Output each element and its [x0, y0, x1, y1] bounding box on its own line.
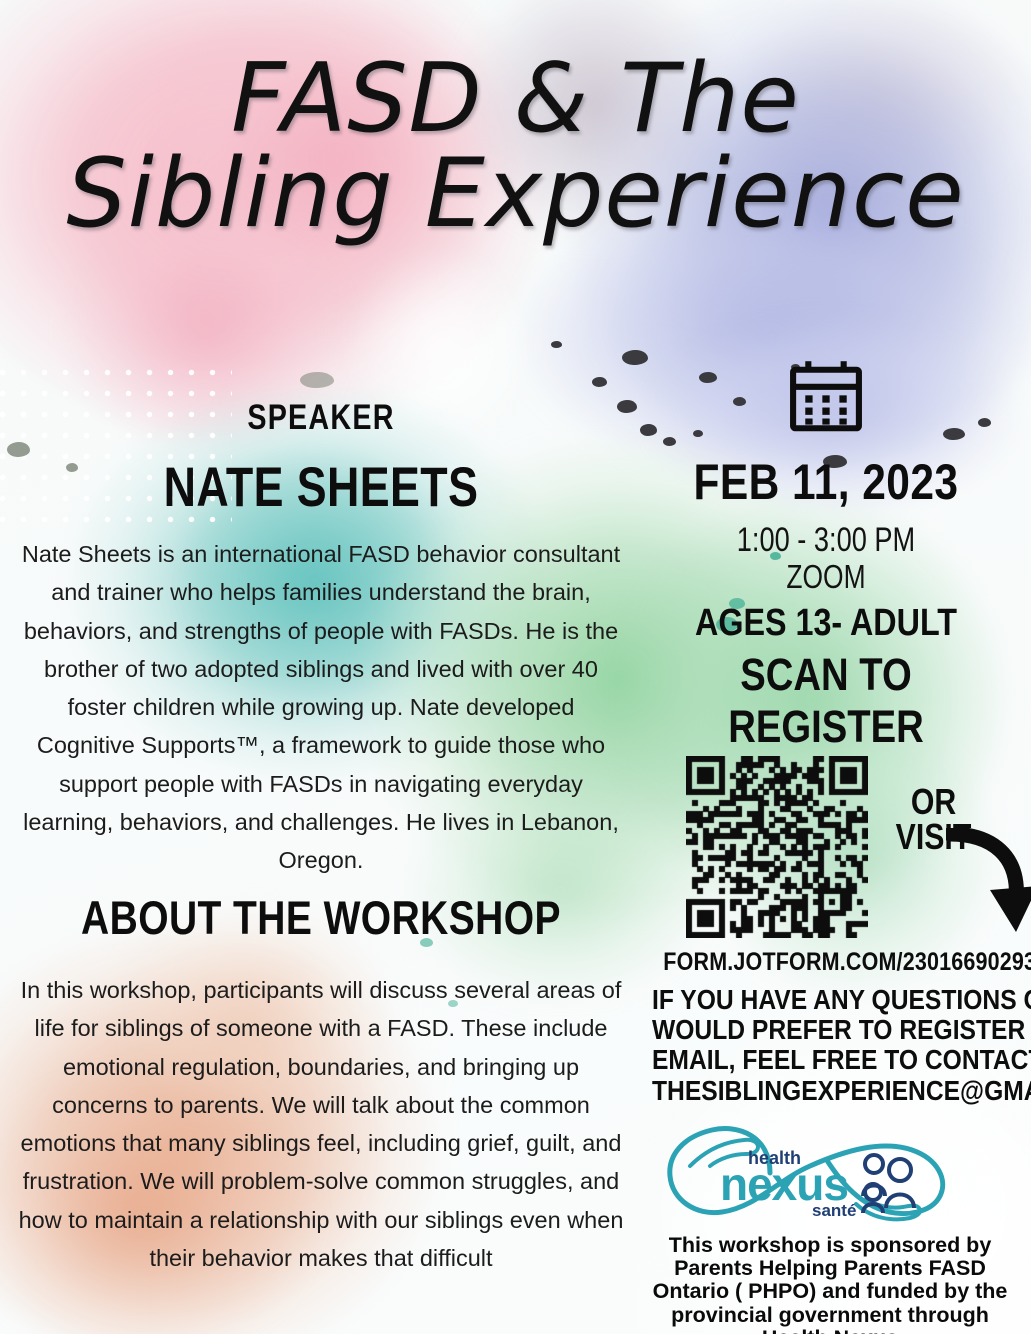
sponsor-line-5: Health Nexus	[630, 1327, 1030, 1334]
sponsor-line-1: This workshop is sponsored by	[630, 1234, 1030, 1257]
about-workshop-section: ABOUT THE WORKSHOP In this workshop, par…	[18, 890, 624, 1277]
calendar-icon	[787, 360, 865, 443]
contact-line-1: IF YOU HAVE ANY QUESTIONS OR	[652, 985, 1004, 1015]
or-line-1: OR	[894, 784, 974, 819]
about-heading: ABOUT THE WORKSHOP	[70, 890, 573, 945]
event-time: 1:00 - 3:00 PM	[674, 521, 978, 560]
event-details-section: FEB 11, 2023 1:00 - 3:00 PM ZOOM AGES 13…	[636, 360, 1016, 753]
registration-url[interactable]: FORM.JOTFORM.COM/230166902931857	[663, 948, 998, 977]
scan-cta: SCAN TO REGISTER	[665, 649, 988, 753]
title-line-2: Sibling Experience	[0, 149, 1031, 240]
event-ages: AGES 13- ADULT	[665, 602, 988, 645]
logo-word-sante: santé	[812, 1201, 856, 1220]
family-group-icon	[863, 1155, 914, 1213]
curved-down-arrow-icon	[946, 828, 1031, 938]
health-nexus-logo: health nexus santé	[660, 1118, 960, 1228]
sponsor-text: This workshop is sponsored by Parents He…	[630, 1234, 1030, 1334]
event-date: FEB 11, 2023	[665, 453, 988, 511]
poster-title: FASD & The Sibling Experience	[0, 54, 1031, 240]
contact-line-3: EMAIL, FEEL FREE TO CONTACT US AT:	[652, 1045, 1004, 1075]
about-text: In this workshop, participants will disc…	[18, 971, 624, 1277]
registration-block: OR VISIT	[636, 756, 1026, 946]
contact-line-2: WOULD PREFER TO REGISTER BY	[652, 1015, 1004, 1045]
contact-email[interactable]: THESIBLINGEXPERIENCE@GMAIL.COM	[652, 1076, 1004, 1106]
speaker-kicker: SPEAKER	[73, 398, 570, 438]
title-line-1: FASD & The	[0, 54, 1031, 145]
speaker-name: NATE SHEETS	[79, 454, 564, 519]
speaker-bio: Nate Sheets is an international FASD beh…	[18, 535, 624, 880]
contact-block: IF YOU HAVE ANY QUESTIONS OR WOULD PREFE…	[652, 985, 1004, 1106]
poster-canvas: FASD & The Sibling Experience SPEAKER NA…	[0, 0, 1031, 1334]
sponsor-line-2: Parents Helping Parents FASD	[630, 1257, 1030, 1280]
sponsor-line-4: provincial government through	[630, 1304, 1030, 1327]
speaker-section: SPEAKER NATE SHEETS Nate Sheets is an in…	[18, 398, 624, 880]
event-platform: ZOOM	[674, 558, 978, 596]
qr-code[interactable]	[686, 756, 868, 938]
sponsor-line-3: Ontario ( PHPO) and funded by the	[630, 1280, 1030, 1303]
